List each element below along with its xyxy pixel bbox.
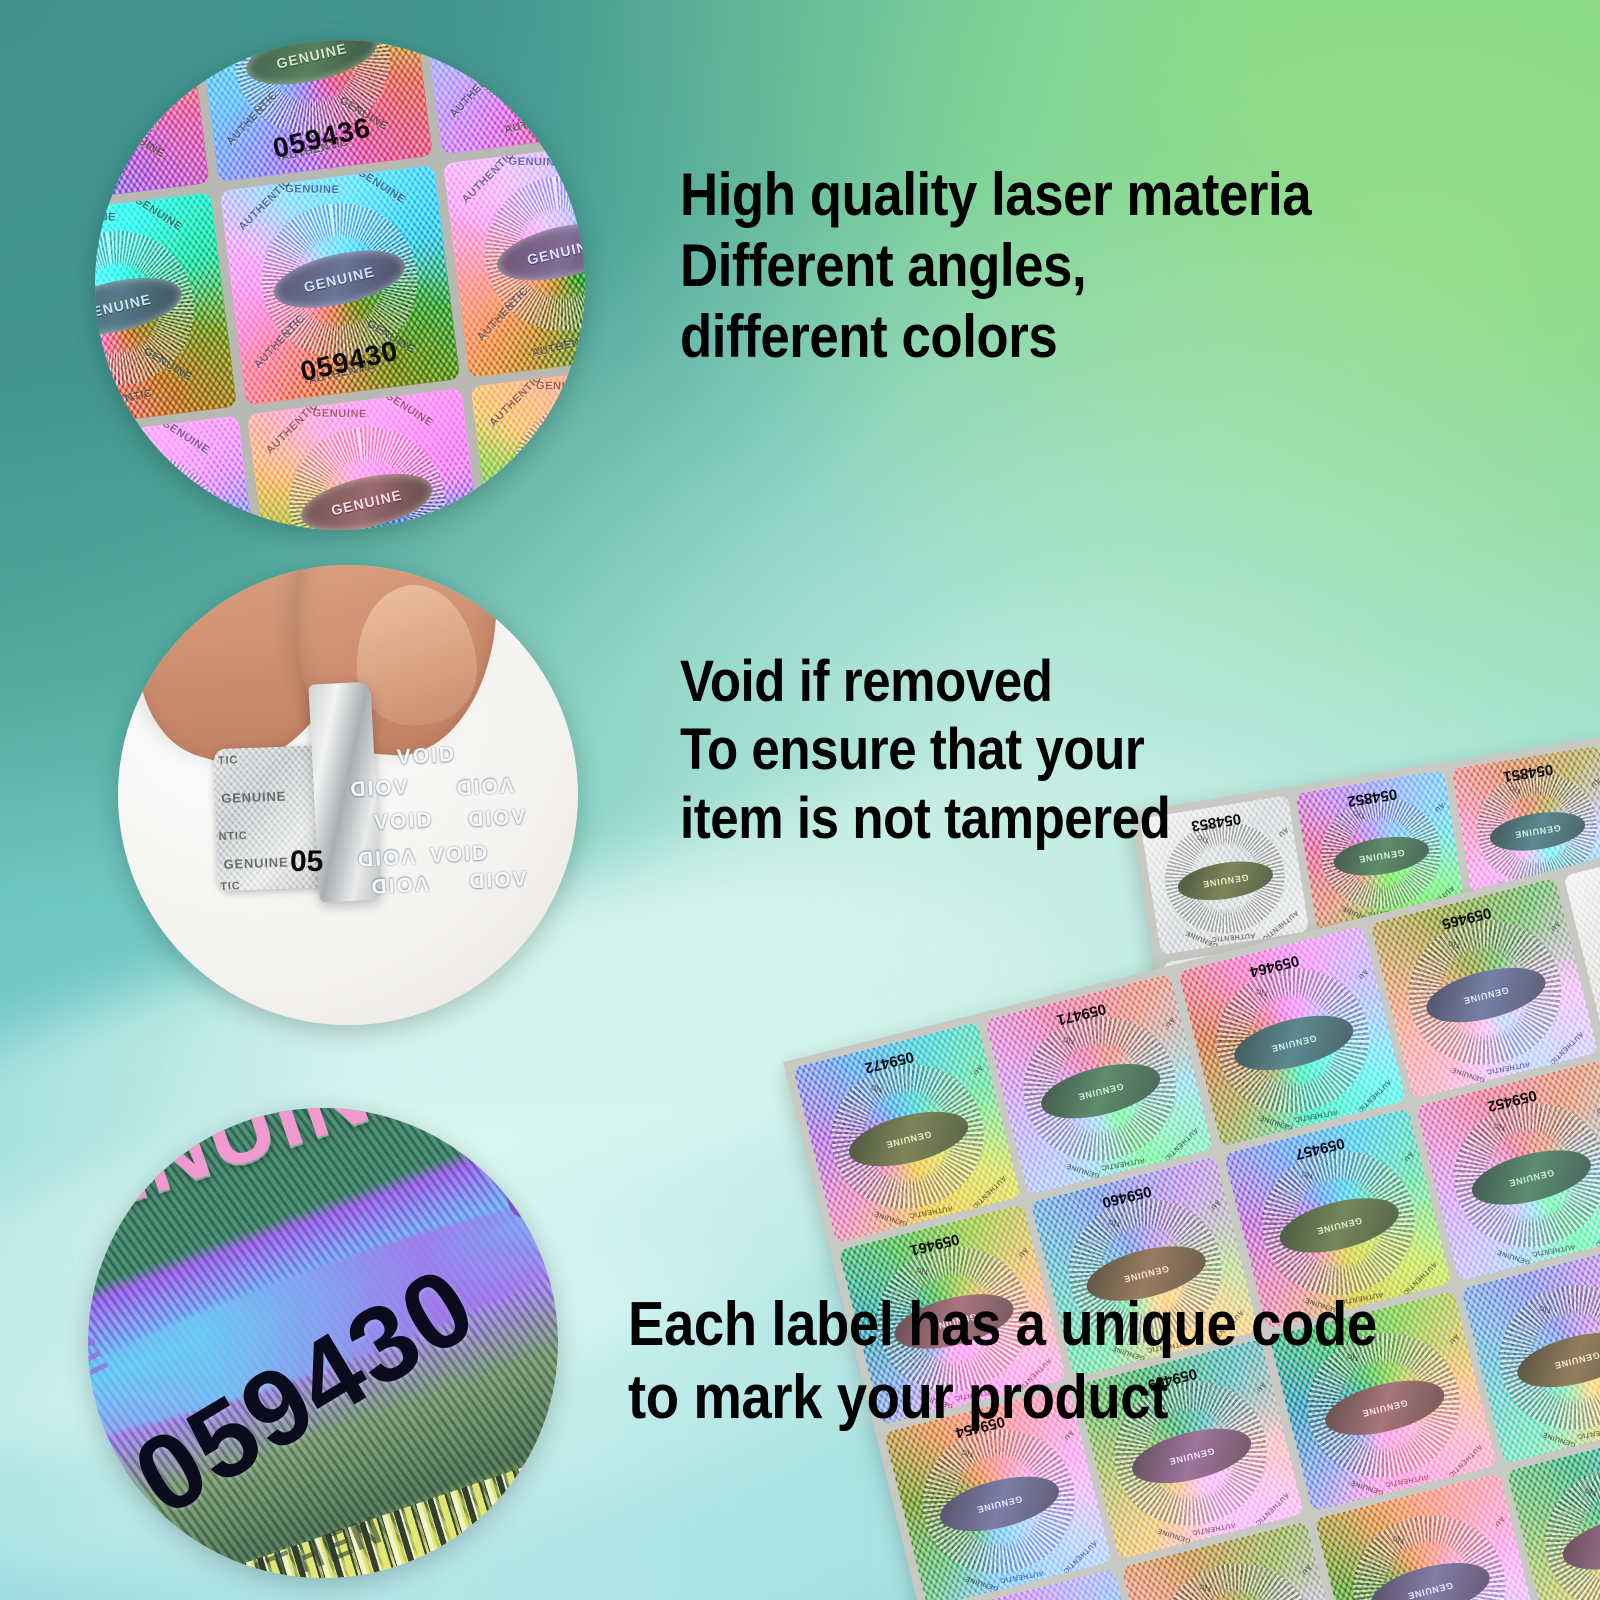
void-word-8: VOID [369,871,430,898]
sticker-genuine-label: GENUINE [976,1494,1024,1515]
sticker-pattern-word: AUTHENTIC [909,1204,954,1219]
sticker-serial-number: 059465 [1440,904,1493,933]
sticker-word-genuine-1: GENUINE [221,789,286,806]
sticker-label: GENUINEAUTHENTICGENUINEAUTICAUTHENTIC059… [1178,926,1406,1147]
void-residue-area: VOID VOID VOID VOID VOID VOID VOID VOID … [352,738,560,898]
tile-pattern-word: GENUINE [132,193,184,233]
tile-genuine-label: GENUINE [95,67,125,99]
hologram-tile: GENUINEAUTHENTICGENUINEAUTHENTICGENUINEA… [95,40,210,209]
sticker-pattern-word: GENUINE [1066,1161,1101,1178]
void-word-7: VOID [429,841,490,868]
tile-pattern-word: AUTHENTIC [95,164,126,191]
hologram-tile: GENUINEAUTHENTICGENUINEAUTHENTICGENUINEA… [95,415,264,530]
sticker-pattern-word: TIC [1352,808,1366,819]
sticker-pattern-word: AUTHENTIC [1102,1156,1147,1171]
sticker-pattern-word: TIC [1508,784,1522,795]
sticker-pattern-word: TIC [1392,1534,1406,1544]
tile-pattern-word: AUTHENTIC [531,332,585,359]
headline-2-line-3: item is not tampered [680,785,1170,853]
sticker-genuine-oval: GENUINE [1365,1553,1495,1600]
headline-void-if-removed: Void if removed To ensure that your item… [680,648,1170,853]
hologram-tile: GENUINEAUTHENTICGENUINEAUTHENTICGENUINEA… [247,388,488,530]
sticker-genuine-oval: GENUINE [1331,830,1431,880]
sticker-serial-number: 054853 [1190,810,1242,835]
tile-pattern-word: GENUINE [508,156,563,169]
sticker-pattern-word: TIC [1584,1486,1598,1496]
sticker-genuine-label: GENUINE [1553,1350,1600,1371]
hologram-tile-grid: GENUINEAUTHENTICGENUINEAUTHENTICGENUINEA… [95,40,585,530]
sticker-genuine-label: GENUINE [1462,985,1510,1006]
sticker-genuine-label: GENUINE [1508,1167,1556,1188]
sticker-pattern-word: AU [1301,1563,1314,1576]
tile-genuine-oval: GENUINE [268,239,410,318]
tile-genuine-label: GENUINE [553,459,585,491]
tile-genuine-label: GENUINE [275,40,349,71]
sticker-label: GENUINEAUTHENTICGENUINEAUTICAUTHENTIC059… [1416,1060,1600,1281]
sticker-pattern-word: TIC [1196,833,1210,844]
sticker-pattern-word: AUTHENTIC [1385,1473,1430,1488]
hologram-tile: GENUINEAUTHENTICGENUINEAUTHENTICGENUINEA… [192,40,433,182]
tile-genuine-oval: GENUINE [296,463,438,530]
headline-laser-material: High quality laser materia Different ang… [680,160,1311,372]
sticker-pattern-word: AU [1549,920,1562,933]
sticker-pattern-word: AUTHENTIC [1000,1569,1045,1584]
sticker-pattern-word: TIC [1493,1121,1507,1131]
tile-pattern-word: AUTHENTIC [95,387,154,414]
sticker-pattern-word: AU [1164,1016,1177,1029]
sticker-word-ntic: NTIC [218,830,247,843]
photo-hologram-sheet: GENUINEAUTHENTICGENUINEAUTHENTICGENUINEA… [95,40,585,530]
sticker-pattern-word: AUTHENTIC [1192,1521,1237,1536]
sticker-pattern-word: GENUINE [1496,1248,1531,1265]
sticker-word-tic: TIC [218,754,239,767]
photo-void-peel: TIC GENUINE NTIC GENUINE TIC VOID VOID V… [118,565,578,1025]
tile-pattern-word: GENUINE [159,417,211,457]
tile-genuine-label: GENUINE [526,235,585,267]
headline-1-line-2: Different angles, [680,231,1311,302]
sticker-pattern-word: AUTHENTIC [1356,1078,1393,1114]
tile-serial-number: 059436 [270,111,374,165]
sticker-pattern-word: AU [1589,776,1600,788]
tile-pattern-word: GENUINE [114,122,167,160]
sticker-genuine-oval: GENUINE [1421,958,1551,1033]
sticker-genuine-oval: GENUINE [1512,1323,1600,1398]
photo-macro-serial: GENUINE GE INE AUTHEN 059430 [88,1108,558,1578]
tile-pattern-word: GENUINE [141,345,194,383]
tile-genuine-oval: GENUINE [464,40,585,67]
tile-pattern-word: GENUINE [561,67,585,105]
tile-pattern-word: GENUINE [312,407,367,420]
sticker-genuine-oval: GENUINE [1036,1054,1166,1129]
sticker-pattern-word: TIC [1301,1169,1315,1179]
tile-pattern-word: GENUINE [95,211,116,224]
sticker-serial-number: 059460 [1101,1182,1154,1211]
void-word-1: VOID [396,743,457,770]
sticker-pattern-word: TIC [1448,939,1462,949]
hologram-tile: GENUINEAUTHENTICGENUINEAUTHENTICGENUINEA… [416,40,585,155]
void-word-4: VOID [374,808,435,835]
sticker-pattern-word: AUTHENTIC [1163,1126,1200,1162]
tile-pattern-word: GENUINE [285,183,340,196]
tile-genuine-label: GENUINE [302,263,376,295]
sticker-pattern-word: TIC [870,1083,884,1093]
sticker-pattern-word: AUTHENTIC [1578,1425,1600,1440]
hologram-tile: GENUINEAUTHENTICGENUINEAUTHENTICGENUINEA… [220,165,461,406]
tile-pattern-word: AUTHENTIC [503,109,573,136]
sticker-serial-number: 059461 [908,1230,961,1259]
tile-pattern-word: GENUINE [579,139,585,179]
tile-pattern-word: GENUINE [383,389,435,429]
tile-genuine-oval: GENUINE [95,267,187,346]
sticker-genuine-label: GENUINE [1315,1215,1363,1236]
sticker-pattern-word: TIC [961,1448,975,1458]
tile-genuine-oval: GENUINE [519,435,585,514]
sticker-pattern-word: TIC [1539,1304,1553,1314]
sticker-genuine-label: GENUINE [1168,1446,1216,1467]
sticker-serial-number: 054851 [1502,760,1554,785]
headline-3-line-1: Each label has a unique code [628,1288,1377,1361]
sticker-pattern-word: AU [1493,1515,1506,1528]
tile-genuine-label: GENUINE [330,486,404,518]
sticker-pattern-word: AU [1402,1150,1415,1163]
sticker-label: GENUINEAUTHENTICGENUINEAUTICAUTHENTIC059… [793,1022,1021,1243]
headline-2-line-1: Void if removed [680,648,1170,716]
sticker-genuine-label: GENUINE [1406,1580,1454,1600]
void-word-3: VOID [454,772,515,799]
tile-pattern-word: AUTHENTIC [447,62,503,121]
sticker-genuine-oval: GENUINE [1487,806,1587,856]
sticker-pattern-word: GENUINE [1451,1065,1486,1082]
hologram-tile: GENUINEAUTHENTICGENUINEAUTHENTICGENUINEA… [95,192,237,433]
sticker-genuine-oval: GENUINE [1467,1140,1597,1215]
sticker-pattern-word: AUTHENTIC [1594,1212,1600,1248]
tile-pattern-word: GENUINE [355,166,407,206]
poster-canvas: GENUINEAUTHENTICGENUINEAUTHENTICGENUINEA… [0,0,1600,1600]
tile-genuine-oval: GENUINE [492,212,585,291]
tile-pattern-word: AUTHENTIC [502,509,558,530]
sticker-pattern-word: AUTHENTIC [1548,1030,1585,1066]
sticker-pattern-word: AUTHENTIC [1487,1060,1532,1075]
sticker-pattern-word: AUTHENTIC [1401,1260,1438,1296]
sticker-pattern-word: AU [1277,825,1290,837]
sticker-genuine-label: GENUINE [885,1129,933,1150]
sticker-word-genuine-2: GENUINE [223,855,288,872]
tile-genuine-oval: GENUINE [95,43,159,122]
sticker-serial-number: 059471 [1055,1000,1108,1029]
sticker-genuine-label: GENUINE [1270,1033,1318,1054]
sticker-genuine-label: GENUINE [1077,1081,1125,1102]
sticker-pattern-word: AUTHENTIC [1294,1108,1339,1123]
sticker-serial-number: 059452 [1486,1086,1539,1115]
void-word-2: VOID [348,776,409,803]
sticker-genuine-label: GENUINE [1202,872,1250,889]
sticker-serial-number: 059464 [1248,952,1301,981]
tile-genuine-label: GENUINE [498,40,572,44]
headline-3-line-2: to mark your product [628,1361,1377,1434]
hologram-tile: GENUINEAUTHENTICGENUINEAUTHENTICGENUINEA… [470,361,585,530]
void-word-9: VOID [467,867,528,894]
sticker-pattern-word: AU [1448,1333,1461,1346]
sticker-pattern-word: AUTHENTIC [971,1174,1008,1210]
sticker-label: GENUINEAUTHENTICGENUINEAUTICAUTHENTIC059… [985,974,1213,1195]
macro-holo-surface: GENUINE GE INE AUTHEN 059430 [88,1108,558,1578]
sticker-label: GENUINEAUTHENTICGENUINEAUTICAUTHENTIC059… [1370,878,1598,1099]
tile-serial-number: 059430 [297,335,401,389]
sticker-genuine-oval: GENUINE [1229,1006,1359,1081]
sticker-pattern-word: AU [1433,800,1446,812]
sticker-pattern-word: AUTHENTIC [1254,1491,1291,1527]
headline-1-line-1: High quality laser materia [680,160,1311,231]
tile-genuine-oval: GENUINE [95,490,214,530]
sticker-pattern-word: TIC [1063,1035,1077,1045]
tile-genuine-oval: GENUINE [241,40,383,94]
serial-fragment: 05 [290,845,323,879]
void-word-5: VOID [466,805,527,832]
sticker-word-tic-2: TIC [220,880,241,893]
sticker-pattern-word: GENUINE [1349,1478,1384,1495]
hologram-tile: GENUINEAUTHENTICGENUINEAUTHENTICGENUINEA… [443,137,585,378]
sticker-pattern-word: AU [1357,968,1370,981]
sticker-pattern-word: GENUINE [873,1209,908,1226]
sticker-genuine-oval: GENUINE [1558,1505,1600,1580]
sticker-serial-number: 054852 [1346,785,1398,810]
tile-pattern-word: AUTHENTIC [475,285,531,344]
sticker-pattern-word: GENUINE [964,1574,999,1591]
sticker-pattern-word: AU [972,1064,985,1077]
tile-pattern-word: GENUINE [95,434,143,447]
sticker-pattern-word: TIC [916,1265,930,1275]
tile-genuine-label: GENUINE [95,290,153,322]
sticker-serial-number: 059472 [863,1048,916,1077]
sticker-pattern-word: TIC [1108,1217,1122,1227]
sticker-serial-number: 059457 [1293,1134,1346,1163]
sticker-pattern-word: AU [1017,1246,1030,1259]
sticker-genuine-oval: GENUINE [1175,855,1275,905]
headline-unique-code: Each label has a unique code to mark you… [628,1288,1377,1434]
sticker-pattern-word: AUTHENTIC [1447,1443,1484,1479]
tile-pattern-word: GENUINE [536,379,585,392]
headline-2-line-2: To ensure that your [680,716,1170,784]
sticker-pattern-word: GENUINE [1157,1526,1192,1543]
sticker-pattern-word: AUTHENTIC [1532,1243,1577,1258]
headline-1-line-3: different colors [680,302,1311,373]
sticker-pattern-word: TIC [1256,987,1270,997]
sticker-genuine-oval: GENUINE [844,1102,974,1177]
sticker-genuine-label: GENUINE [1514,822,1562,839]
sticker-pattern-word: AUTHENTIC [1211,932,1255,943]
sticker-genuine-label: GENUINE [1358,847,1406,864]
sticker-genuine-oval: GENUINE [935,1467,1065,1542]
sticker-pattern-word: AU [1595,1102,1600,1115]
tile-genuine-label: GENUINE [106,514,180,530]
sticker-pattern-word: GENUINE [1542,1430,1577,1447]
sticker-pattern-word: TIC [1199,1582,1213,1592]
void-word-6: VOID [355,843,416,870]
sticker-pattern-word: GENUINE [1258,1113,1293,1130]
sticker-genuine-oval: GENUINE [1274,1188,1404,1263]
sticker-pattern-word: AU [1210,1198,1223,1211]
sticker-pattern-word: AUTHENTIC [1062,1539,1099,1575]
sticker-genuine-label: GENUINE [1123,1263,1171,1284]
